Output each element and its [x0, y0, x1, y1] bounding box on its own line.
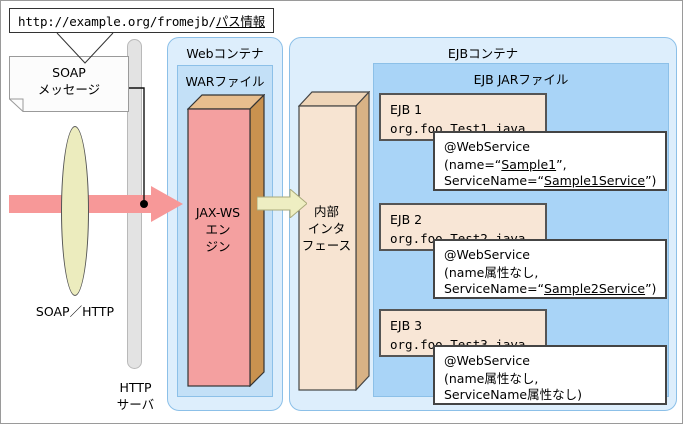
url-callout-box: http://example.org/fromejb/パス情報 — [9, 8, 274, 33]
iface-line2: インタ — [298, 220, 355, 237]
http-server-label: HTTP サーバ — [93, 379, 178, 413]
web-container-title: Webコンテナ — [167, 43, 283, 62]
url-callout-text: http://example.org/fromejb/パス情報 — [18, 11, 265, 30]
anno-3-line2-pre: (name属性なし, — [444, 371, 538, 386]
internal-interface-box: 内部 インタ フェース — [298, 91, 370, 391]
anno-2-line2-pre: (name属性なし, — [444, 265, 538, 280]
ejb-container-title: EJBコンテナ — [289, 43, 677, 62]
war-file-title: WARファイル — [177, 71, 273, 90]
ejb-annotation-1: @WebService (name=“Sample1”, ServiceName… — [433, 131, 667, 191]
ejb-card-1-name: EJB 1 — [390, 100, 525, 119]
iface-line3: フェース — [298, 237, 355, 254]
http-server-line1: HTTP — [93, 379, 178, 396]
diagram-frame: Webコンテナ WARファイル JAX-WS エン ジン EJBコンテナ EJB… — [0, 0, 683, 424]
anno-3-line1: @WebService — [444, 352, 530, 370]
anno-1-line3-underline: Sample1Service — [544, 173, 645, 188]
anno-3-line3-pre: ServiceName属性なし) — [444, 387, 582, 402]
anno-2-line3-pre: ServiceName=“ — [444, 281, 544, 296]
anno-2-line1: @WebService — [444, 246, 530, 264]
anno-1-line3: ServiceName=“Sample1Service”) — [444, 172, 656, 190]
ejb-annotation-2: @WebService (name属性なし, ServiceName=“Samp… — [433, 239, 667, 299]
anno-2-line3-post: ”) — [645, 281, 656, 296]
anno-2-line3: ServiceName=“Sample2Service”) — [444, 280, 656, 298]
soap-http-flow-arrow — [9, 186, 183, 222]
internal-call-arrow — [257, 189, 307, 218]
anno-1-line3-post: ”) — [645, 173, 656, 188]
jaxws-line1: JAX-WS — [187, 204, 249, 221]
anno-1-line3-pre: ServiceName=“ — [444, 173, 544, 188]
http-server-line2: サーバ — [93, 396, 178, 413]
anno-1-line2-post: ”, — [556, 157, 566, 172]
url-prefix: http://example.org/fromejb/ — [18, 14, 216, 29]
anno-1-line2-pre: (name=“ — [444, 157, 501, 172]
ejb-card-3-name: EJB 3 — [390, 316, 525, 335]
soap-message-line1: SOAP — [9, 64, 129, 81]
jaxws-line2: エン — [187, 221, 249, 238]
soap-message-callout: SOAP メッセージ — [9, 56, 129, 112]
anno-1-line2-underline: Sample1 — [501, 157, 556, 172]
ejb-card-2-name: EJB 2 — [390, 210, 525, 229]
ejb-jar-title: EJB JARファイル — [373, 69, 669, 88]
jaxws-line3: ジン — [187, 238, 249, 255]
jaxws-engine-box: JAX-WS エン ジン — [187, 94, 265, 387]
anno-1-line1: @WebService — [444, 138, 530, 156]
anno-3-line3: ServiceName属性なし) — [444, 386, 582, 404]
soap-http-channel-ellipse — [61, 126, 89, 296]
soap-message-label: SOAP メッセージ — [9, 64, 129, 98]
url-path-info: パス情報 — [216, 14, 265, 29]
anno-2-line3-underline: Sample2Service — [544, 281, 645, 296]
soap-http-label: SOAP／HTTP — [15, 301, 135, 320]
jaxws-engine-label: JAX-WS エン ジン — [187, 204, 249, 255]
ejb-annotation-3: @WebService (name属性なし, ServiceName属性なし) — [433, 345, 667, 405]
soap-message-line2: メッセージ — [9, 81, 129, 98]
